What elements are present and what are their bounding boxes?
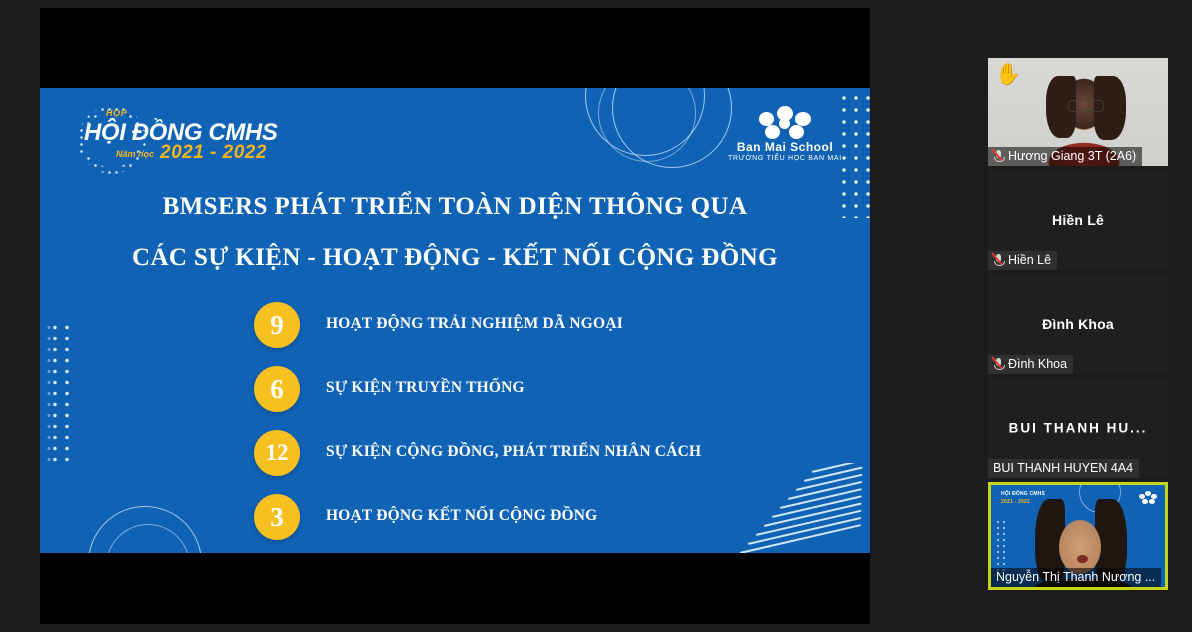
school-logo: Ban Mai School TRƯỜNG TIỂU HỌC BAN MAI	[720, 106, 850, 168]
logo-year-label: Năm học	[116, 149, 154, 159]
participant-name-label: Hiền Lê	[1008, 253, 1051, 267]
logo-year-text: 2021 - 2022	[160, 142, 267, 164]
participant-name-label: Nguyễn Thị Thanh Nương ...	[996, 570, 1155, 584]
participant-display-name: Hiền Lê	[988, 212, 1168, 228]
participant-name-bar: Nguyễn Thị Thanh Nương ...	[991, 568, 1161, 587]
mic-muted-icon	[993, 357, 1004, 371]
slide-item: 12SỰ KIỆN CỘNG ĐỒNG, PHÁT TRIỂN NHÂN CÁC…	[254, 430, 870, 494]
participant-tile[interactable]: BUI THANH HU...BUI THANH HUYEN 4A4	[988, 378, 1168, 478]
participant-name-bar: Hiền Lê	[988, 251, 1057, 270]
participant-display-name: BUI THANH HU...	[988, 421, 1168, 436]
participant-filmstrip[interactable]: Hương Giang 3T (2A6)✋Hiền LêHiền LêĐình …	[988, 58, 1168, 592]
slide-item-label: SỰ KIỆN TRUYỀN THỐNG	[326, 379, 525, 397]
slide-item: 9HOẠT ĐỘNG TRẢI NGHIỆM DÃ NGOẠI	[254, 302, 870, 366]
mic-muted-icon	[993, 149, 1004, 163]
meeting-logo: HỌP HỘI ĐỒNG CMHS Năm học 2021 - 2022	[78, 108, 288, 170]
slide-title-line-2: CÁC SỰ KIỆN - HOẠT ĐỘNG - KẾT NỐI CỘNG Đ…	[40, 245, 870, 270]
participant-tile[interactable]: HỘI ĐỒNG CMHS2021 - 2022Nguyễn Thị Thanh…	[988, 482, 1168, 590]
shared-screen-stage[interactable]: HỌP HỘI ĐỒNG CMHS Năm học 2021 - 2022 Ba…	[40, 8, 870, 624]
slide-item: 3HOẠT ĐỘNG KẾT NỐI CỘNG ĐỒNG	[254, 494, 870, 553]
participant-name-bar: Đình Khoa	[988, 355, 1073, 374]
school-name: Ban Mai School	[720, 140, 850, 154]
slide-item-count-badge: 3	[254, 494, 300, 540]
school-subtitle: TRƯỜNG TIỂU HỌC BAN MAI	[720, 155, 850, 162]
slide-item-count-badge: 9	[254, 302, 300, 348]
slide-item: 6SỰ KIỆN TRUYỀN THỐNG	[254, 366, 870, 430]
dot-grid-decoration-left	[48, 320, 76, 465]
slide-item-count-badge: 12	[254, 430, 300, 476]
participant-tile[interactable]: Hương Giang 3T (2A6)✋	[988, 58, 1168, 166]
participant-name-label: Hương Giang 3T (2A6)	[1008, 149, 1136, 163]
participant-name-label: Đình Khoa	[1008, 357, 1067, 371]
participant-name-bar: Hương Giang 3T (2A6)	[988, 147, 1142, 166]
participant-tile[interactable]: Đình KhoaĐình Khoa	[988, 274, 1168, 374]
flower-icon	[757, 106, 813, 140]
slide-item-label: HOẠT ĐỘNG TRẢI NGHIỆM DÃ NGOẠI	[326, 315, 623, 333]
slide-title: BMSERS PHÁT TRIỂN TOÀN DIỆN THÔNG QUA CÁ…	[40, 194, 870, 296]
slide-item-label: SỰ KIỆN CỘNG ĐỒNG, PHÁT TRIỂN NHÂN CÁCH	[326, 443, 701, 461]
slide-item-list: 9HOẠT ĐỘNG TRẢI NGHIỆM DÃ NGOẠI6SỰ KIỆN …	[254, 302, 870, 553]
raised-hand-icon: ✋	[995, 64, 1021, 85]
meeting-window: HỌP HỘI ĐỒNG CMHS Năm học 2021 - 2022 Ba…	[0, 0, 1192, 632]
participant-name-bar: BUI THANH HUYEN 4A4	[988, 459, 1139, 478]
participant-tile[interactable]: Hiền LêHiền Lê	[988, 170, 1168, 270]
participant-name-label: BUI THANH HUYEN 4A4	[993, 461, 1133, 475]
logo-hop-text: HỌP	[106, 108, 127, 118]
slide-title-line-1: BMSERS PHÁT TRIỂN TOÀN DIỆN THÔNG QUA	[40, 194, 870, 219]
presentation-slide: HỌP HỘI ĐỒNG CMHS Năm học 2021 - 2022 Ba…	[40, 88, 870, 553]
mic-muted-icon	[993, 253, 1004, 267]
slide-item-label: HOẠT ĐỘNG KẾT NỐI CỘNG ĐỒNG	[326, 507, 597, 525]
participant-display-name: Đình Khoa	[988, 316, 1168, 332]
slide-item-count-badge: 6	[254, 366, 300, 412]
